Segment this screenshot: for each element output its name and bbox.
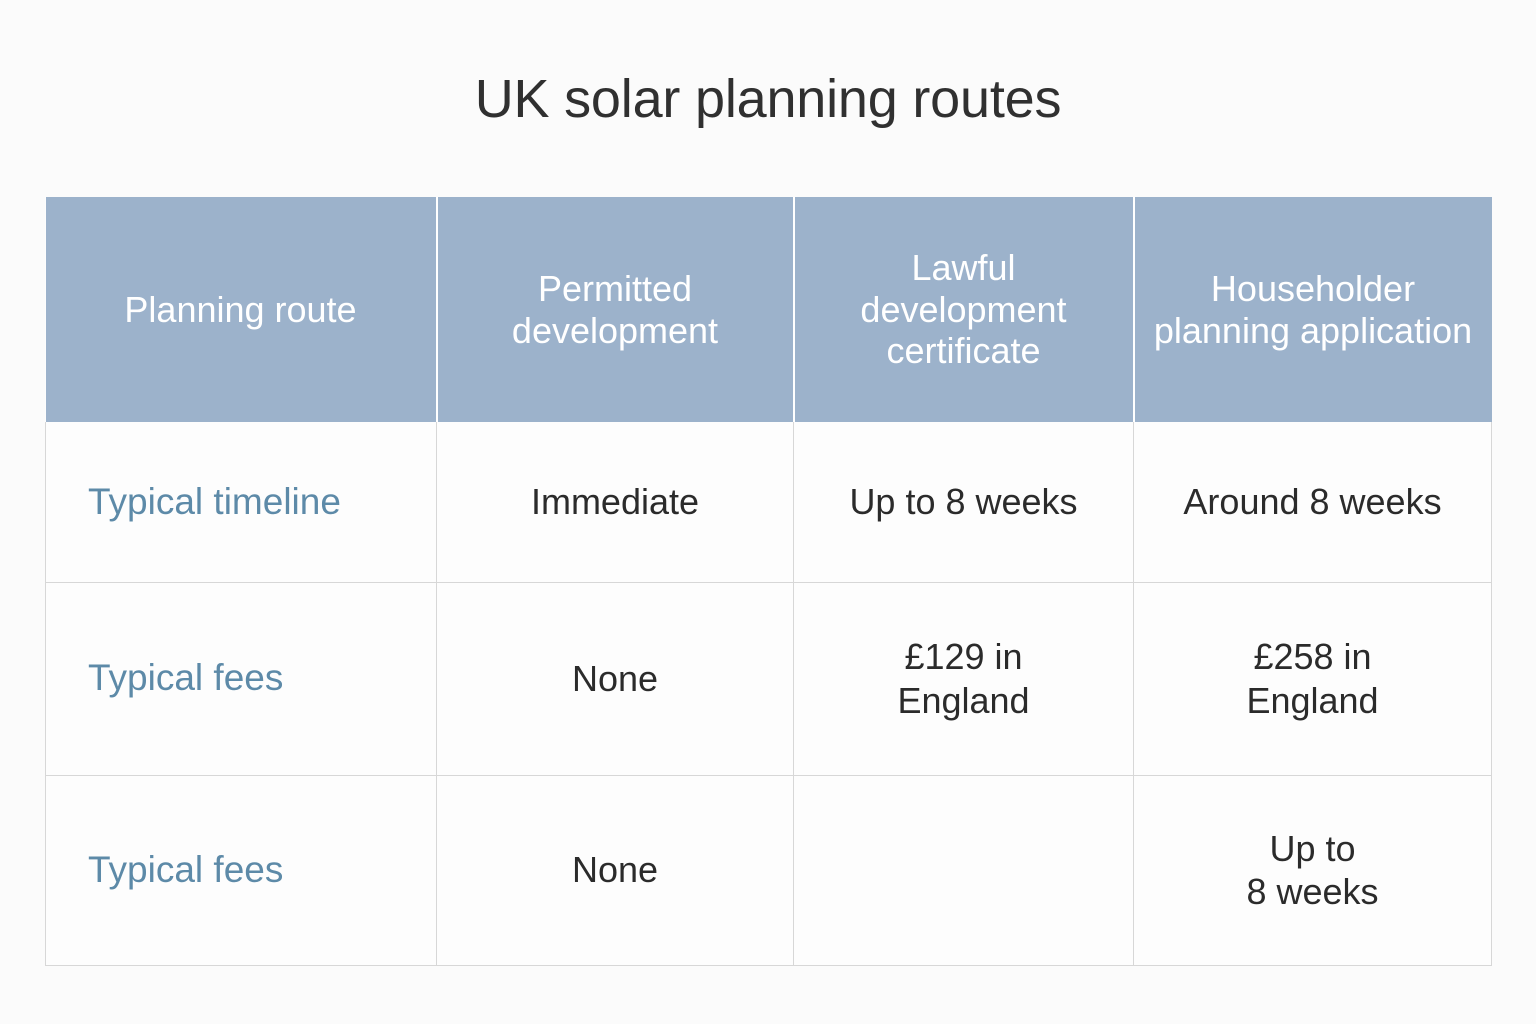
cell-fees-permitted-development: None xyxy=(437,582,794,775)
table-header-row: Planning route Permitted development Law… xyxy=(46,197,1492,422)
cell-fees2-lawful-development-certificate xyxy=(794,775,1134,965)
page-title: UK solar planning routes xyxy=(0,70,1536,129)
cell-fees2-householder-planning-application-line1: Up to xyxy=(1148,827,1477,870)
column-header-householder-planning-application-line1: Householder xyxy=(1211,268,1415,309)
cell-fees2-householder-planning-application-line2: 8 weeks xyxy=(1148,870,1477,913)
column-header-planning-route: Planning route xyxy=(46,197,437,422)
cell-fees2-householder-planning-application: Up to 8 weeks xyxy=(1134,775,1492,965)
column-header-lawful-development-certificate: Lawful development certificate xyxy=(794,197,1134,422)
row-label-typical-timeline: Typical timeline xyxy=(46,422,437,582)
planning-routes-table: Planning route Permitted development Law… xyxy=(45,197,1492,966)
cell-fees-householder-planning-application-line1: £258 in xyxy=(1148,635,1477,678)
column-header-householder-planning-application-line3: application xyxy=(1300,310,1472,351)
column-header-householder-planning-application-line2: planning xyxy=(1154,310,1290,351)
table-row: Typical fees None £129 in England £258 i… xyxy=(46,582,1492,775)
column-header-lawful-development-certificate-line1: Lawful xyxy=(911,247,1015,288)
column-header-lawful-development-certificate-line3: certificate xyxy=(886,330,1040,371)
cell-timeline-householder-planning-application: Around 8 weeks xyxy=(1134,422,1492,582)
cell-fees-lawful-development-certificate-line2: England xyxy=(808,679,1119,722)
table-page: UK solar planning routes Planning route … xyxy=(0,0,1536,1024)
cell-fees-lawful-development-certificate-line1: £129 in xyxy=(808,635,1119,678)
cell-timeline-permitted-development: Immediate xyxy=(437,422,794,582)
cell-timeline-lawful-development-certificate: Up to 8 weeks xyxy=(794,422,1134,582)
table-body: Typical timeline Immediate Up to 8 weeks… xyxy=(46,422,1492,965)
table-container: Planning route Permitted development Law… xyxy=(45,197,1491,966)
row-label-typical-fees-duplicate: Typical fees xyxy=(46,775,437,965)
column-header-householder-planning-application: Householder planning application xyxy=(1134,197,1492,422)
column-header-permitted-development: Permitted development xyxy=(437,197,794,422)
column-header-permitted-development-line2: development xyxy=(512,310,718,351)
cell-fees2-permitted-development: None xyxy=(437,775,794,965)
table-row: Typical timeline Immediate Up to 8 weeks… xyxy=(46,422,1492,582)
row-label-typical-fees: Typical fees xyxy=(46,582,437,775)
column-header-permitted-development-line1: Permitted xyxy=(538,268,692,309)
column-header-lawful-development-certificate-line2: development xyxy=(860,289,1066,330)
cell-fees-householder-planning-application-line2: England xyxy=(1148,679,1477,722)
column-header-planning-route-line1: Planning route xyxy=(124,289,356,330)
table-header: Planning route Permitted development Law… xyxy=(46,197,1492,422)
cell-fees-lawful-development-certificate: £129 in England xyxy=(794,582,1134,775)
table-row: Typical fees None Up to 8 weeks xyxy=(46,775,1492,965)
cell-fees-householder-planning-application: £258 in England xyxy=(1134,582,1492,775)
